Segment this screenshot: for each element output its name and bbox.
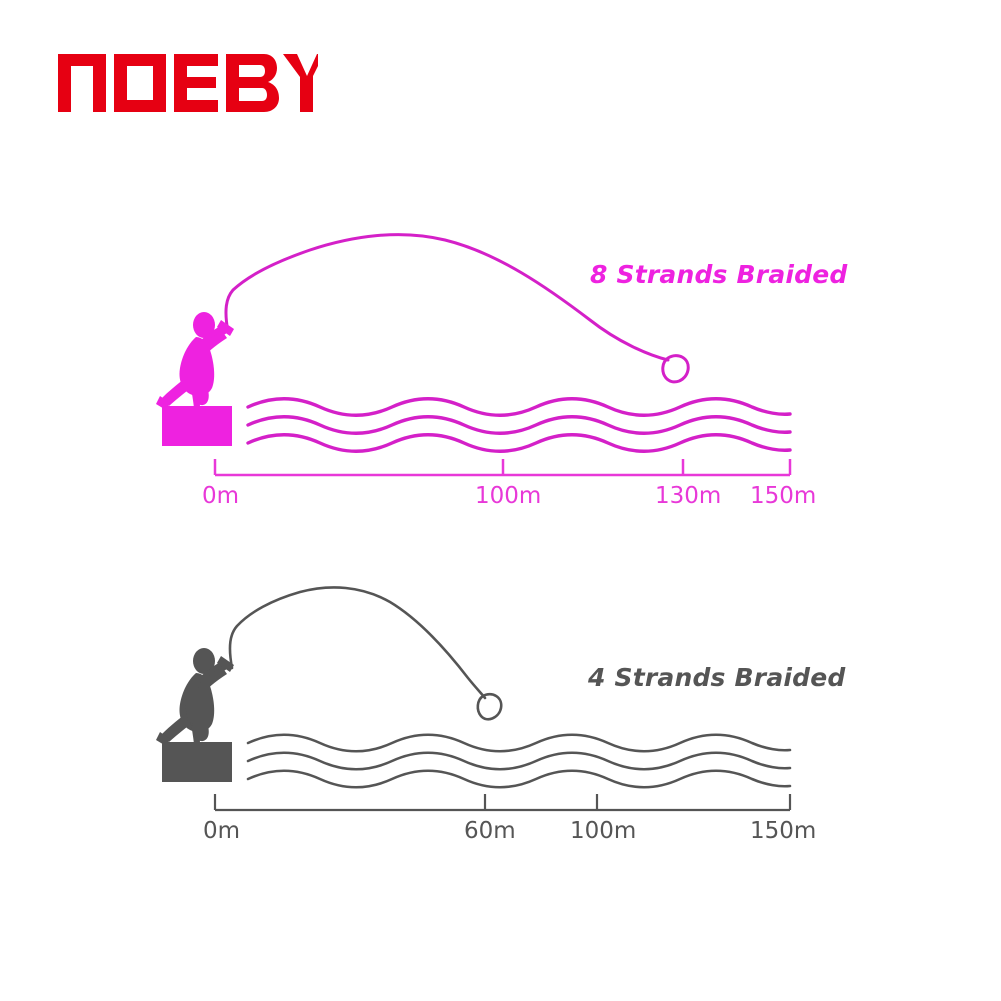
water-waves-icon-4 — [248, 735, 790, 788]
distance-axis-4 — [215, 794, 790, 810]
panel-4-strands-label: 4 Strands Braided — [588, 663, 846, 692]
angler-casting-icon-4 — [156, 648, 234, 746]
tick-label-bottom-60: 60m — [464, 818, 516, 844]
panel-4-strands-graphics — [0, 0, 1001, 1001]
tick-label-bottom-150: 150m — [750, 818, 816, 844]
angler-platform-4 — [162, 742, 232, 782]
cast-trajectory-icon-4 — [230, 587, 501, 719]
tick-label-bottom-100: 100m — [570, 818, 636, 844]
infographic-canvas: 8 Strands Braided 0m 100m 130m 150m — [0, 0, 1001, 1001]
tick-label-bottom-0: 0m — [203, 818, 240, 844]
